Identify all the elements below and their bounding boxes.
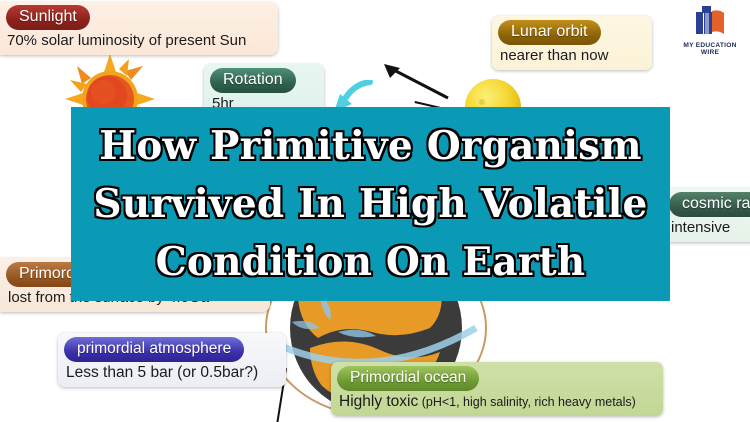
- callout-rotation-badge: Rotation: [210, 68, 296, 93]
- headline-line-1: How Primitive Organism: [99, 117, 642, 175]
- callout-primordial-ocean-body-detail: (pH<1, high salinity, rich heavy metals): [418, 395, 636, 409]
- callout-cosmic-rays-body: intensive: [663, 217, 750, 242]
- callout-sunlight-body: 70% solar luminosity of present Sun: [0, 30, 278, 55]
- headline-line-2: Survived In High Volatile: [93, 175, 647, 233]
- headline-line-3: Condition On Earth: [156, 233, 586, 291]
- callout-cosmic-rays-badge: cosmic rays: [669, 192, 750, 217]
- my-education-wire-logo: MY EDUCATION WIRE: [676, 6, 744, 52]
- callout-sunlight: Sunlight 70% solar luminosity of present…: [0, 2, 278, 55]
- callout-primordial-ocean-body-strong: Highly toxic: [339, 393, 418, 410]
- logo-text: MY EDUCATION WIRE: [676, 42, 744, 56]
- callout-primordial-ocean-badge: Primordial ocean: [337, 366, 479, 391]
- arrow-up-left-icon: [378, 62, 450, 100]
- callout-cosmic-rays: cosmic rays intensive: [663, 188, 750, 242]
- callout-lunar-orbit-badge: Lunar orbit: [498, 20, 601, 45]
- callout-lunar-orbit-body: nearer than now: [492, 45, 652, 70]
- callout-primordial-ocean-body: Highly toxic (pH<1, high salinity, rich …: [331, 391, 663, 416]
- callout-primordial-ocean: Primordial ocean Highly toxic (pH<1, hig…: [331, 362, 663, 416]
- callout-primordial-atmosphere: primordial atmosphere Less than 5 bar (o…: [58, 333, 286, 387]
- book-logo-icon: [676, 6, 744, 36]
- headline-banner: How Primitive Organism Survived In High …: [71, 107, 670, 301]
- callout-sunlight-badge: Sunlight: [6, 5, 90, 30]
- infographic-image: Sunlight 70% solar luminosity of present…: [0, 0, 750, 422]
- callout-primordial-atmosphere-badge: primordial atmosphere: [64, 337, 244, 362]
- callout-primordial-atmosphere-body: Less than 5 bar (or 0.5bar?): [58, 362, 286, 387]
- callout-lunar-orbit: Lunar orbit nearer than now: [492, 16, 652, 70]
